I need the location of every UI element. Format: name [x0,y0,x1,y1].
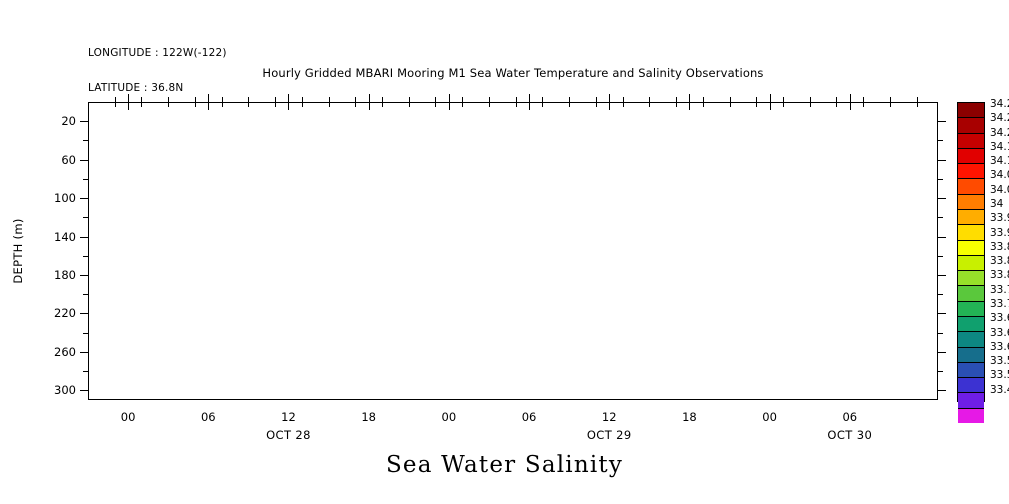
colorbar-band [958,240,984,255]
x-axis-tick-minor [623,102,624,107]
x-axis-tick-major [128,102,129,110]
y-axis-tick-minor [83,179,88,180]
x-axis-tick-label: 18 [361,410,376,424]
x-axis-tick-minor-top [382,97,383,102]
x-axis-tick-minor-top [409,97,410,102]
x-axis-tick-minor [115,102,116,107]
axis-layer: 2060100140180220260300000612180006121800… [88,102,938,400]
page-title: Hourly Gridded MBARI Mooring M1 Sea Wate… [88,66,938,80]
x-axis-tick-minor [516,102,517,107]
colorbar-tick-label: 33.76 [990,284,1009,296]
x-axis-tick-minor-top [516,97,517,102]
colorbar-tick-label: 33.8 [990,269,1009,281]
x-axis-tick-minor [168,102,169,107]
y-axis-tick-minor-right [938,371,943,372]
x-axis-tick-minor-top [917,97,918,102]
x-axis-tick-minor [676,102,677,107]
x-axis-tick-minor-top [248,97,249,102]
x-axis-tick-major [529,102,530,110]
colorbar-band [958,117,984,132]
x-axis-tick-major-top [288,94,289,102]
x-axis-tick-minor-top [542,97,543,102]
colorbar-band [958,347,984,362]
x-axis-tick-minor-top [756,97,757,102]
x-axis-tick-label: 12 [281,410,296,424]
x-axis-tick-minor [783,102,784,107]
x-axis-tick-major-top [609,94,610,102]
colorbar-band [958,255,984,270]
x-axis-tick-minor [329,102,330,107]
colorbar-band [958,408,984,423]
colorbar-tick-label: 33.88 [990,241,1009,253]
colorbar-tick-label: 33.48 [990,384,1009,396]
y-axis-tick-label: 300 [54,383,76,397]
chart-subtitle: Sea Water Salinity [0,452,1009,478]
y-axis-title: DEPTH (m) [11,218,25,283]
x-axis-tick-minor-top [275,97,276,102]
x-axis-tick-label: 06 [842,410,857,424]
colorbar-band [958,285,984,300]
colorbar-tick-label: 33.96 [990,212,1009,224]
y-axis-tick-label: 220 [54,306,76,320]
x-axis-tick-minor [195,102,196,107]
y-axis-tick-minor [83,294,88,295]
y-axis-tick-label: 140 [54,230,76,244]
y-axis-tick-major [80,275,88,276]
colorbar-band [958,209,984,224]
y-axis-tick-major [80,313,88,314]
colorbar-tick-label: 33.52 [990,369,1009,381]
x-axis-tick-minor [382,102,383,107]
longitude-label: LONGITUDE : 122W(-122) [88,48,227,60]
x-axis-tick-minor [489,102,490,107]
x-axis-tick-major [850,102,851,110]
y-axis-tick-minor-right [938,179,943,180]
colorbar-tick-label: 34.16 [990,141,1009,153]
colorbar-band [958,103,984,117]
x-axis-tick-major-top [208,94,209,102]
colorbar-tick-label: 34.12 [990,155,1009,167]
y-axis-tick-major-right [938,390,946,391]
x-axis-tick-minor [275,102,276,107]
x-axis-tick-minor-top [195,97,196,102]
x-axis-tick-label: 12 [602,410,617,424]
y-axis-tick-minor [83,140,88,141]
x-axis-tick-major-top [770,94,771,102]
x-axis-tick-major [609,102,610,110]
x-axis-tick-minor [836,102,837,107]
colorbar-tick-label: 33.92 [990,227,1009,239]
y-axis-tick-major-right [938,352,946,353]
x-axis-tick-label: 00 [762,410,777,424]
x-axis-tick-minor-top [222,97,223,102]
y-axis-tick-label: 60 [61,153,76,167]
x-axis-tick-minor [409,102,410,107]
colorbar[interactable] [957,102,985,402]
y-axis-tick-major-right [938,160,946,161]
x-axis-tick-major-top [369,94,370,102]
colorbar-tick-label: 34.24 [990,112,1009,124]
y-axis-tick-label: 180 [54,268,76,282]
x-axis-tick-major [689,102,690,110]
x-axis-tick-major-top [529,94,530,102]
x-axis-tick-minor-top [676,97,677,102]
x-axis-tick-minor-top [596,97,597,102]
x-axis-tick-minor [703,102,704,107]
x-axis-tick-minor [569,102,570,107]
y-axis-tick-major-right [938,121,946,122]
x-axis-tick-minor-top [623,97,624,102]
y-axis-tick-minor [83,371,88,372]
colorbar-band [958,148,984,163]
x-axis-tick-minor [649,102,650,107]
y-axis-tick-major [80,198,88,199]
y-axis-tick-minor-right [938,217,943,218]
x-axis-tick-minor-top [302,97,303,102]
x-axis-tick-minor [810,102,811,107]
colorbar-tick-label: 34.28 [990,98,1009,110]
y-axis-tick-major-right [938,275,946,276]
colorbar-band [958,362,984,377]
y-axis-tick-major [80,237,88,238]
x-axis-tick-label: 00 [121,410,136,424]
x-axis-tick-minor [730,102,731,107]
x-axis-tick-minor-top [810,97,811,102]
x-axis-tick-minor [863,102,864,107]
x-axis-tick-minor-top [329,97,330,102]
y-axis-tick-minor-right [938,294,943,295]
x-axis-tick-minor [355,102,356,107]
x-axis-tick-major [208,102,209,110]
x-axis-tick-minor [756,102,757,107]
colorbar-band [958,133,984,148]
colorbar-tick-label: 34 [990,198,1003,210]
x-axis-tick-minor [302,102,303,107]
colorbar-tick-label: 33.56 [990,355,1009,367]
x-axis-tick-minor-top [783,97,784,102]
x-axis-day-label: OCT 28 [266,428,311,442]
colorbar-band [958,316,984,331]
x-axis-tick-label: 06 [522,410,537,424]
colorbar-tick-label: 33.6 [990,341,1009,353]
x-axis-tick-label: 18 [682,410,697,424]
colorbar-band [958,331,984,346]
colorbar-tick-label: 34.04 [990,184,1009,196]
y-axis-tick-minor-right [938,256,943,257]
colorbar-band [958,377,984,392]
y-axis-tick-major [80,390,88,391]
x-axis-tick-minor-top [141,97,142,102]
y-axis-tick-major-right [938,198,946,199]
y-axis-tick-major-right [938,237,946,238]
colorbar-tick-label: 34.08 [990,169,1009,181]
x-axis-tick-minor [435,102,436,107]
x-axis-tick-major [369,102,370,110]
x-axis-tick-minor-top [649,97,650,102]
colorbar-tick-label: 33.68 [990,312,1009,324]
x-axis-tick-minor-top [703,97,704,102]
x-axis-tick-minor [542,102,543,107]
colorbar-tick-label: 33.64 [990,327,1009,339]
x-axis-tick-minor [462,102,463,107]
x-axis-tick-minor-top [730,97,731,102]
colorbar-band [958,163,984,178]
x-axis-tick-major-top [128,94,129,102]
x-axis-tick-minor-top [569,97,570,102]
latitude-label: LATITUDE : 36.8N [88,83,227,95]
x-axis-tick-major-top [850,94,851,102]
x-axis-tick-label: 00 [442,410,457,424]
colorbar-tick-label: 33.84 [990,255,1009,267]
colorbar-band [958,194,984,209]
x-axis-tick-minor-top [836,97,837,102]
y-axis-tick-label: 100 [54,191,76,205]
x-axis-tick-minor-top [462,97,463,102]
x-axis-tick-major [449,102,450,110]
colorbar-band [958,301,984,316]
x-axis-day-label: OCT 29 [587,428,632,442]
x-axis-tick-major-top [449,94,450,102]
x-axis-tick-minor [141,102,142,107]
y-axis-tick-minor [83,217,88,218]
x-axis-tick-major-top [689,94,690,102]
y-axis-tick-label: 260 [54,345,76,359]
x-axis-tick-minor-top [355,97,356,102]
x-axis-tick-minor-top [115,97,116,102]
x-axis-tick-minor-top [863,97,864,102]
colorbar-band [958,224,984,239]
x-axis-tick-minor-top [168,97,169,102]
colorbar-tick-label: 33.72 [990,298,1009,310]
colorbar-band [958,392,984,407]
y-axis-tick-minor [83,333,88,334]
x-axis-tick-minor [890,102,891,107]
colorbar-band [958,178,984,193]
y-axis-tick-minor-right [938,140,943,141]
x-axis-tick-minor [222,102,223,107]
colorbar-tick-label: 34.2 [990,127,1009,139]
y-axis-tick-major [80,160,88,161]
y-axis-tick-label: 20 [61,114,76,128]
colorbar-band [958,270,984,285]
x-axis-day-label: OCT 30 [827,428,872,442]
x-axis-tick-minor-top [890,97,891,102]
y-axis-tick-major [80,121,88,122]
x-axis-tick-major [770,102,771,110]
x-axis-tick-minor [596,102,597,107]
y-axis-tick-minor-right [938,333,943,334]
y-axis-tick-minor [83,256,88,257]
y-axis-tick-major [80,352,88,353]
x-axis-tick-major [288,102,289,110]
y-axis-tick-major-right [938,313,946,314]
x-axis-tick-minor-top [435,97,436,102]
x-axis-tick-minor [917,102,918,107]
x-axis-tick-label: 06 [201,410,216,424]
x-axis-tick-minor [248,102,249,107]
x-axis-tick-minor-top [489,97,490,102]
